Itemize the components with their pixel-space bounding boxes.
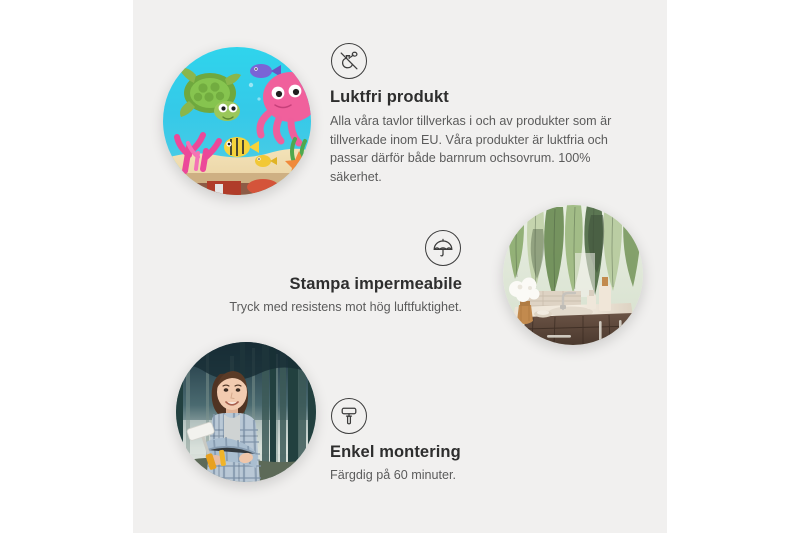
feature-odour-free: Luktfri produkt Alla våra tavlor tillver… xyxy=(330,43,630,186)
feature-easy-mounting: Enkel montering Färgdig på 60 minuter. xyxy=(330,398,590,485)
feature-waterproof: Stampa impermeabile Tryck med resistens … xyxy=(190,230,462,317)
bathroom-tropical-wallpaper-photo xyxy=(503,205,643,345)
feature-title: Stampa impermeabile xyxy=(190,275,462,294)
feature-body: Färgdig på 60 minuter. xyxy=(330,466,590,485)
feature-body: Tryck med resistens mot hög luftfuktighe… xyxy=(190,298,462,317)
feature-body: Alla våra tavlor tillverkas i och av pro… xyxy=(330,112,618,186)
screenshot-canvas: Luktfri produkt Alla våra tavlor tillver… xyxy=(0,0,800,533)
no-fragrance-icon xyxy=(331,43,367,79)
paint-roller-icon xyxy=(331,398,367,434)
woman-paint-roller-forest-photo xyxy=(176,342,316,482)
underwater-cartoon-mural-photo xyxy=(163,47,311,195)
umbrella-icon xyxy=(425,230,461,266)
feature-title: Luktfri produkt xyxy=(330,88,630,107)
feature-title: Enkel montering xyxy=(330,443,590,462)
